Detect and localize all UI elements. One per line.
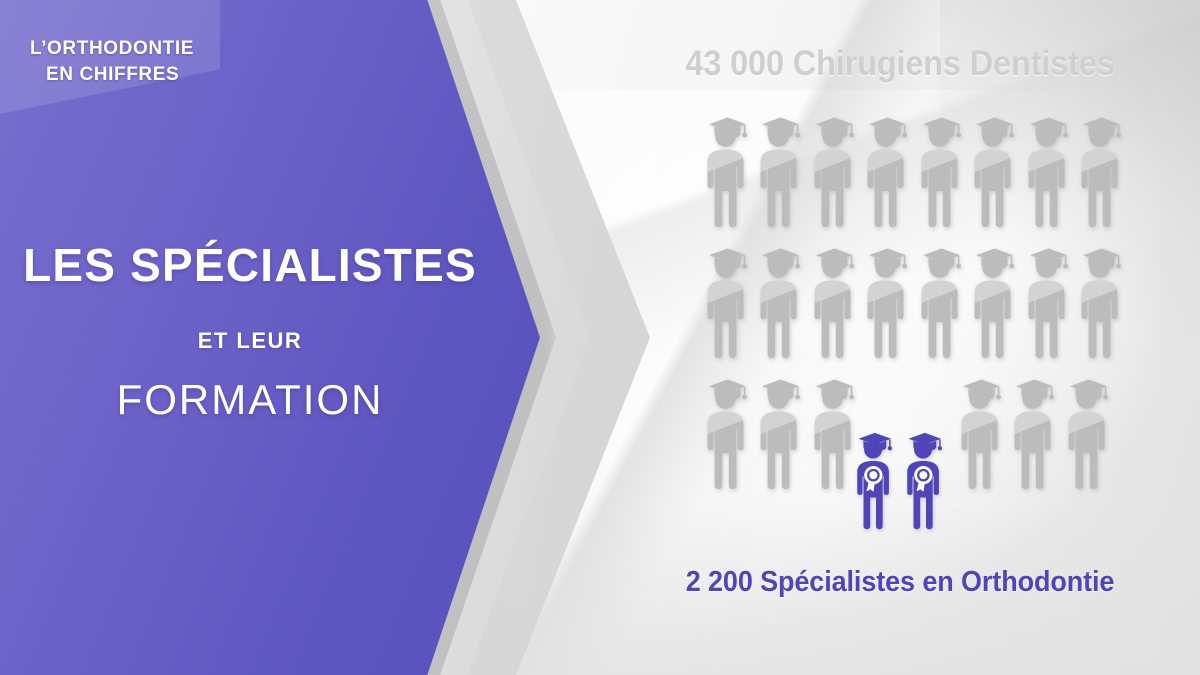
graduation-cap-icon xyxy=(859,433,892,452)
pictogram-figure-dentist xyxy=(964,243,1024,362)
pictogram-figure-dentist xyxy=(911,243,971,362)
pictogram-figure-dentist xyxy=(857,243,917,362)
pictogram-figure-dentist xyxy=(1004,374,1064,493)
pictogram-figure-dentist xyxy=(1058,374,1118,493)
pictogram-figure-dentist xyxy=(697,243,757,362)
graduation-cap-icon xyxy=(976,118,1014,139)
pictogram-figure-dentist xyxy=(804,243,864,362)
pictogram-figure-dentist xyxy=(911,112,971,231)
pictogram-figure-dentist xyxy=(697,374,757,493)
graduation-cap-icon xyxy=(869,118,907,139)
graduation-cap-icon xyxy=(1070,380,1108,401)
pictogram-figure-dentist xyxy=(964,112,1024,231)
pictogram-figure-dentist xyxy=(750,112,810,231)
graduation-cap-icon xyxy=(709,380,747,401)
graduation-cap-icon xyxy=(1030,249,1068,270)
graduation-cap-icon xyxy=(709,249,747,270)
graduation-cap-icon xyxy=(1016,380,1054,401)
graduation-cap-icon xyxy=(976,249,1014,270)
pictogram-figure-dentist xyxy=(1071,243,1131,362)
pictogram-figure-dentist xyxy=(1018,112,1078,231)
graduation-cap-icon xyxy=(909,433,942,452)
graduation-cap-icon xyxy=(1030,118,1068,139)
pictogram-figure-dentist xyxy=(1071,112,1131,231)
infographic-slide: L’ORTHODONTIE EN CHIFFRES LES SPÉCIALIST… xyxy=(0,0,1200,675)
graduation-cap-icon xyxy=(762,249,800,270)
graduation-cap-icon xyxy=(923,249,961,270)
graduation-cap-icon xyxy=(963,380,1001,401)
pictogram-figure-dentist xyxy=(750,374,810,493)
graduation-cap-icon xyxy=(762,118,800,139)
graduation-cap-icon xyxy=(816,118,854,139)
pictogram-figure-dentist xyxy=(1018,243,1078,362)
pictogram-figure-specialist xyxy=(898,428,951,533)
pictogram-figure-specialist xyxy=(848,428,901,533)
pictogram-people-grid xyxy=(0,0,1200,675)
graduation-cap-icon xyxy=(709,118,747,139)
graduation-cap-icon xyxy=(816,380,854,401)
graduation-cap-icon xyxy=(816,249,854,270)
graduation-cap-icon xyxy=(762,380,800,401)
pictogram-figure-dentist xyxy=(951,374,1011,493)
graduation-cap-icon xyxy=(1083,249,1121,270)
pictogram-figure-dentist xyxy=(697,112,757,231)
pictogram-figure-dentist xyxy=(804,112,864,231)
graduation-cap-icon xyxy=(869,249,907,270)
pictogram-figure-dentist xyxy=(750,243,810,362)
graduation-cap-icon xyxy=(1083,118,1121,139)
pictogram-figure-dentist xyxy=(857,112,917,231)
graduation-cap-icon xyxy=(923,118,961,139)
